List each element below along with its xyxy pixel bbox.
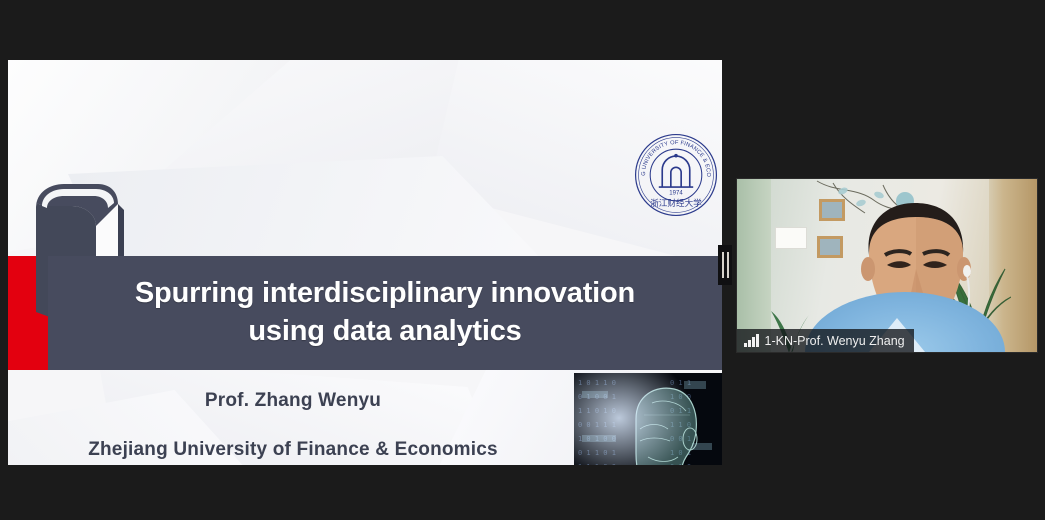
video-wall-left-panel — [737, 179, 771, 352]
slide-title-band: Spurring interdisciplinary innovation us… — [48, 256, 722, 370]
slide-title: Spurring interdisciplinary innovation us… — [135, 275, 635, 350]
participant-video-tile[interactable]: 1-KN-Prof. Wenyu Zhang — [736, 178, 1038, 353]
svg-text:浙江财经大学: 浙江财经大学 — [650, 197, 702, 209]
presentation-stage: ZHEJIANG UNIVERSITY OF FINANCE & ECONOMI… — [0, 0, 1045, 520]
svg-text:1974: 1974 — [669, 190, 683, 196]
drag-handle-icon[interactable] — [718, 245, 732, 285]
wall-note-decor — [775, 227, 807, 249]
presenter-organization: Zhejiang University of Finance & Economi… — [8, 439, 578, 461]
signal-bars-icon — [744, 335, 759, 347]
ai-wireframe-head-image: 1 0 1 1 00 1 0 0 1 1 1 0 1 00 0 1 1 1 1 … — [574, 373, 722, 465]
university-seal-icon: ZHEJIANG UNIVERSITY OF FINANCE & ECONOMI… — [633, 132, 719, 218]
participant-name-text: 1-KN-Prof. Wenyu Zhang — [765, 334, 905, 348]
shared-slide[interactable]: ZHEJIANG UNIVERSITY OF FINANCE & ECONOMI… — [8, 60, 722, 465]
presenter-name: Prof. Zhang Wenyu — [8, 390, 578, 412]
slide-title-line-2: using data analytics — [135, 313, 635, 351]
participant-name-label: 1-KN-Prof. Wenyu Zhang — [737, 329, 914, 352]
presenter-block: Prof. Zhang Wenyu Zhejiang University of… — [8, 390, 578, 461]
slide-title-line-1: Spurring interdisciplinary innovation — [135, 275, 635, 313]
